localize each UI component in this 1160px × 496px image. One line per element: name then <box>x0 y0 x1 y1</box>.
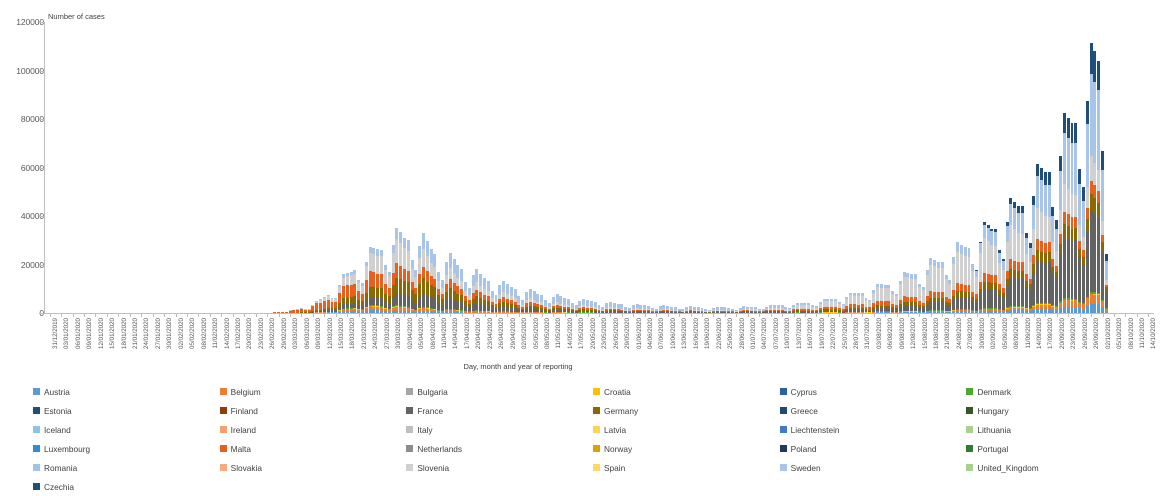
x-axis-tick-mark <box>519 314 520 317</box>
bar-segment-slovenia <box>899 284 902 300</box>
legend-item-greece[interactable]: Greece <box>780 406 967 416</box>
bar-segment-sweden <box>964 247 967 256</box>
legend-item-austria[interactable]: Austria <box>33 387 220 397</box>
x-axis-tick-label: 02/04/2020 <box>407 318 414 349</box>
bar <box>807 303 810 313</box>
x-axis-tick-mark <box>908 314 909 317</box>
x-axis-tick-mark <box>187 314 188 317</box>
bar <box>468 288 471 313</box>
bar-segment-malta <box>357 291 360 300</box>
legend-item-lithuania[interactable]: Lithuania <box>966 425 1153 435</box>
x-axis-tick-label: 06/08/2020 <box>887 318 894 349</box>
legend-item-croatia[interactable]: Croatia <box>593 387 780 397</box>
legend-item-belgium[interactable]: Belgium <box>220 387 407 397</box>
legend-item-luxembourg[interactable]: Luxembourg <box>33 444 220 454</box>
bar <box>338 285 341 313</box>
bar-segment-sweden <box>552 297 555 304</box>
bar-segment-malta <box>445 284 448 292</box>
x-axis-tick-label: 21/01/2020 <box>132 318 139 349</box>
x-axis-tick-mark <box>256 314 257 317</box>
x-axis-tick-mark <box>450 314 451 317</box>
bar-segment-germany <box>399 279 402 294</box>
bar <box>948 280 951 313</box>
bar-segment-slovenia <box>849 295 852 304</box>
x-axis-tick-label: 23/05/2020 <box>601 318 608 349</box>
bar <box>1021 206 1024 313</box>
bar-segment-malta <box>994 275 997 283</box>
bar <box>605 303 608 313</box>
bar <box>437 272 440 313</box>
bar-segment-czechia <box>1074 123 1077 143</box>
bar-segment-france <box>1101 252 1104 300</box>
bar-segment-czechia <box>1105 254 1108 261</box>
bar <box>376 249 379 313</box>
legend-label: Malta <box>231 444 251 454</box>
bar-segment-sweden <box>502 281 505 292</box>
bar <box>880 284 883 313</box>
legend-item-iceland[interactable]: Iceland <box>33 425 220 435</box>
legend-swatch-icon <box>780 388 787 395</box>
x-axis-tick-mark <box>485 314 486 317</box>
bar-segment-germany <box>1059 244 1062 255</box>
bar <box>960 245 963 313</box>
bar-segment-slovenia <box>1029 262 1032 279</box>
bar-segment-sweden <box>479 274 482 286</box>
bar-segment-slovenia <box>392 253 395 273</box>
x-axis-tick-label: 02/05/2020 <box>521 318 528 349</box>
bar-segment-germany <box>1032 264 1035 273</box>
bar-segment-slovenia <box>437 281 440 289</box>
bar-segment-slovenia <box>1040 212 1043 241</box>
x-axis-tick-mark <box>61 314 62 317</box>
x-axis-tick-label: 18/03/2020 <box>349 318 356 349</box>
x-axis-tick-label: 14/10/2020 <box>1150 318 1157 349</box>
bar-segment-slovenia <box>350 275 353 285</box>
x-axis-tick-labels: 31/12/201903/01/202006/01/202009/01/2020… <box>44 314 1154 358</box>
legend-item-spain[interactable]: Spain <box>593 463 780 473</box>
bar-segment-sweden <box>994 232 997 246</box>
x-axis-tick-label: 27/03/2020 <box>384 318 391 349</box>
bar-segment-slovenia <box>914 279 917 298</box>
bar-segment-malta <box>392 273 395 285</box>
bar-segment-slovenia <box>990 245 993 275</box>
x-axis-tick-mark <box>656 314 657 317</box>
x-axis-tick-label: 27/01/2020 <box>155 318 162 349</box>
bar-segment-slovenia <box>872 293 875 304</box>
legend-swatch-icon <box>220 445 227 452</box>
bar-segment-germany <box>395 278 398 293</box>
bar <box>639 305 642 313</box>
bar-segment-france <box>956 297 959 309</box>
bar <box>521 300 524 313</box>
bar <box>586 300 589 313</box>
bar-segment-france <box>1071 241 1074 299</box>
bar-segment-germany <box>380 288 383 299</box>
bar <box>552 297 555 313</box>
legend-label: Slovakia <box>231 463 262 473</box>
bar-segment-malta <box>1074 217 1077 228</box>
x-axis-tick-mark <box>95 314 96 317</box>
plot-area <box>44 22 1154 313</box>
bar-segment-germany <box>426 282 429 296</box>
bar <box>1090 43 1093 313</box>
x-axis-tick-mark <box>588 314 589 317</box>
bar-segment-slovenia <box>422 249 425 267</box>
bar-segment-malta <box>346 285 349 297</box>
x-axis-tick-mark <box>73 314 74 317</box>
bar <box>887 285 890 313</box>
legend-item-finland[interactable]: Finland <box>220 406 407 416</box>
bar-segment-slovenia <box>372 254 375 272</box>
x-axis-tick-label: 04/06/2020 <box>647 318 654 349</box>
bar-segment-germany <box>414 294 417 302</box>
bar-segment-germany <box>449 288 452 298</box>
bar-segment-malta <box>1051 259 1054 266</box>
bar-segment-malta <box>449 279 452 288</box>
x-axis-tick-label: 08/09/2020 <box>1013 318 1020 349</box>
bar-segment-slovenia <box>1044 216 1047 243</box>
bar-segment-malta <box>372 272 375 287</box>
legend-item-bulgaria[interactable]: Bulgaria <box>406 387 593 397</box>
bar-segment-czechia <box>1048 172 1051 185</box>
bar <box>392 245 395 313</box>
bar-segment-czechia <box>1036 164 1039 176</box>
x-axis-tick-label: 23/02/2020 <box>258 318 265 349</box>
legend-swatch-icon <box>406 388 413 395</box>
bar <box>1040 168 1043 313</box>
bar <box>872 290 875 313</box>
bar-segment-belgium <box>1097 295 1100 304</box>
bar <box>1071 123 1074 313</box>
bar <box>460 269 463 314</box>
bar <box>414 270 417 313</box>
bar-segment-sweden <box>487 281 490 291</box>
x-axis-tick-label: 20/04/2020 <box>475 318 482 349</box>
x-axis-tick-label: 23/09/2020 <box>1070 318 1077 349</box>
x-axis-tick-label: 03/01/2020 <box>63 318 70 349</box>
bar-segment-slovenia <box>407 251 410 270</box>
x-axis-tick-mark <box>324 314 325 317</box>
legend-item-slovakia[interactable]: Slovakia <box>220 463 407 473</box>
bar-segment-slovenia <box>460 281 463 289</box>
bar-segment-sweden <box>414 270 417 277</box>
x-axis-tick-mark <box>851 314 852 317</box>
bar-segment-slovenia <box>895 296 898 305</box>
x-axis-tick-label: 27/08/2020 <box>967 318 974 349</box>
x-axis-tick-label: 14/04/2020 <box>452 318 459 349</box>
legend-item-malta[interactable]: Malta <box>220 444 407 454</box>
x-axis-tick-label: 24/03/2020 <box>372 318 379 349</box>
legend-item-latvia[interactable]: Latvia <box>593 425 780 435</box>
bar <box>636 304 639 313</box>
bar <box>403 238 406 313</box>
bar-segment-slovenia <box>929 265 932 291</box>
legend-item-czechia[interactable]: Czechia <box>33 482 220 492</box>
bar-segment-sweden <box>456 265 459 278</box>
bar-segment-sweden <box>1032 205 1035 230</box>
bar-segment-france <box>1063 238 1066 299</box>
bar-segment-slovenia <box>342 278 345 286</box>
x-axis-tick-mark <box>691 314 692 317</box>
x-axis-tick-label: 31/12/2019 <box>52 318 59 349</box>
bar-segment-france <box>964 297 967 309</box>
bar-segment-slovenia <box>1006 242 1009 270</box>
bar <box>323 297 326 313</box>
bar <box>449 253 452 313</box>
x-axis-tick-label: 28/07/2020 <box>853 318 860 349</box>
bar-segment-france <box>472 304 475 311</box>
bar <box>411 260 414 313</box>
bar-segment-france <box>449 298 452 309</box>
x-axis-tick-mark <box>393 314 394 317</box>
legend-item-germany[interactable]: Germany <box>593 406 780 416</box>
bar-segment-malta <box>430 276 433 285</box>
bar-segment-france <box>933 302 936 310</box>
bar-segment-france <box>968 297 971 309</box>
bar-segment-slovenia <box>433 267 436 278</box>
bar-segment-malta <box>1090 181 1093 195</box>
legend-label: Italy <box>417 425 432 435</box>
bar-segment-sweden <box>506 284 509 294</box>
bar-segment-czechia <box>1086 101 1089 125</box>
bar-segment-malta <box>1101 235 1104 243</box>
bar <box>884 285 887 313</box>
bar-segment-slovenia <box>1063 184 1066 212</box>
x-axis-tick-label: 12/01/2020 <box>98 318 105 349</box>
x-axis-tick-mark <box>954 314 955 317</box>
bar <box>1093 51 1096 313</box>
legend-label: Lithuania <box>977 425 1011 435</box>
bar-segment-germany <box>403 281 406 295</box>
bar-segment-germany <box>1093 198 1096 214</box>
x-axis-tick-label: 17/04/2020 <box>464 318 471 349</box>
legend-item-poland[interactable]: Poland <box>780 444 967 454</box>
bar-segment-sweden <box>1093 82 1096 163</box>
legend-item-slovenia[interactable]: Slovenia <box>406 463 593 473</box>
legend-item-cyprus[interactable]: Cyprus <box>780 387 967 397</box>
legend-item-portugal[interactable]: Portugal <box>966 444 1153 454</box>
x-axis-tick-label: 24/08/2020 <box>956 318 963 349</box>
x-axis-tick-mark <box>290 314 291 317</box>
bar-segment-sweden <box>968 248 971 257</box>
bar-segment-sweden <box>998 253 1001 264</box>
legend-item-norway[interactable]: Norway <box>593 444 780 454</box>
bar-segment-germany <box>407 282 410 296</box>
x-axis-tick-label: 15/08/2020 <box>922 318 929 349</box>
bar-segment-france <box>971 301 974 311</box>
bar-segment-slovenia <box>910 279 913 298</box>
bar <box>666 306 669 313</box>
x-axis-tick-label: 26/09/2020 <box>1082 318 1089 349</box>
legend-label: Cyprus <box>791 387 817 397</box>
bar-segment-sweden <box>1097 90 1100 170</box>
bar-segment-slovenia <box>399 243 402 266</box>
legend-label: Belgium <box>231 387 261 397</box>
bar <box>861 293 864 313</box>
legend-item-estonia[interactable]: Estonia <box>33 406 220 416</box>
x-axis-tick-label: 15/03/2020 <box>338 318 345 349</box>
bar-segment-sweden <box>1105 261 1108 280</box>
legend-item-france[interactable]: France <box>406 406 593 416</box>
bar <box>971 264 974 313</box>
bar-segment-slovenia <box>853 296 856 305</box>
bar <box>777 305 780 313</box>
x-axis-tick-mark <box>1137 314 1138 317</box>
bar-segment-sweden <box>1055 229 1058 252</box>
x-axis-tick-label: 04/07/2020 <box>761 318 768 349</box>
x-axis-tick-label: 07/07/2020 <box>773 318 780 349</box>
bar-segment-slovenia <box>945 279 948 297</box>
bar-segment-sweden <box>559 296 562 303</box>
x-axis-tick-mark <box>794 314 795 317</box>
bar-segment-czechia <box>1090 43 1093 74</box>
y-axis-tick-label: 100000 <box>0 66 44 76</box>
x-axis-tick-label: 30/01/2020 <box>166 318 173 349</box>
x-axis-tick-label: 06/03/2020 <box>304 318 311 349</box>
bar-segment-france <box>407 296 410 307</box>
bar <box>525 292 528 313</box>
bar-segment-austria <box>1097 304 1100 313</box>
bar-segment-malta <box>365 280 368 293</box>
bar-segment-germany <box>1013 270 1016 278</box>
bar <box>796 302 799 313</box>
x-axis-tick-mark <box>462 314 463 317</box>
x-axis-tick-mark <box>210 314 211 317</box>
bar-segment-france <box>1074 240 1077 298</box>
covid-cases-stacked-bar-chart: Number of cases 020000400006000080000100… <box>0 0 1160 440</box>
x-axis-tick-label: 17/02/2020 <box>235 318 242 349</box>
bar-segment-germany <box>456 294 459 301</box>
bar-segment-slovenia <box>933 266 936 291</box>
bar-segment-sweden <box>1074 143 1077 195</box>
x-axis-tick-label: 26/05/2020 <box>613 318 620 349</box>
bar-segment-france <box>1044 263 1047 303</box>
x-axis-tick-mark <box>748 314 749 317</box>
bar-segment-malta <box>1009 259 1012 269</box>
bar <box>834 299 837 313</box>
bar-segment-france <box>376 298 379 305</box>
legend-item-ireland[interactable]: Ireland <box>220 425 407 435</box>
bar-segment-slovenia <box>998 263 1001 284</box>
bar-segment-germany <box>1074 228 1077 240</box>
bar <box>868 300 871 313</box>
bar <box>575 305 578 313</box>
x-axis-tick-mark <box>359 314 360 317</box>
legend-item-hungary[interactable]: Hungary <box>966 406 1153 416</box>
bar-segment-sweden <box>1029 248 1032 262</box>
legend-item-united_kingdom[interactable]: United_Kingdom <box>966 463 1153 473</box>
bar-segment-france <box>479 304 482 311</box>
legend-swatch-icon <box>593 388 600 395</box>
bar-segment-sweden <box>990 231 993 244</box>
bar-segment-malta <box>1021 262 1024 271</box>
bar-segment-sweden <box>422 233 425 248</box>
x-axis-tick-mark <box>233 314 234 317</box>
bar <box>590 301 593 313</box>
x-axis-tick-mark <box>542 314 543 317</box>
bar-segment-slovenia <box>1002 270 1005 288</box>
bar-segment-malta <box>1036 239 1039 250</box>
bar-segment-germany <box>392 285 395 297</box>
bar-segment-france <box>418 297 421 308</box>
legend-label: Austria <box>44 387 70 397</box>
legend-item-romania[interactable]: Romania <box>33 463 220 473</box>
bar-segment-malta <box>1048 242 1051 252</box>
bar <box>426 241 429 313</box>
legend-item-sweden[interactable]: Sweden <box>780 463 967 473</box>
x-axis-tick-label: 21/03/2020 <box>361 318 368 349</box>
legend-item-netherlands[interactable]: Netherlands <box>406 444 593 454</box>
legend-swatch-icon <box>220 388 227 395</box>
bar-segment-slovenia <box>941 268 944 292</box>
bar-segment-france <box>369 298 372 305</box>
bar-segment-belgium <box>1086 298 1089 305</box>
bar-segment-sweden <box>460 269 463 281</box>
bar-segment-slovenia <box>403 248 406 269</box>
x-axis-tick-label: 18/01/2020 <box>121 318 128 349</box>
bar <box>548 303 551 313</box>
legend-swatch-icon <box>406 445 413 452</box>
bar-segment-france <box>414 303 417 310</box>
legend-item-liechtenstein[interactable]: Liechtenstein <box>780 425 967 435</box>
x-axis-tick-label: 23/04/2020 <box>487 318 494 349</box>
x-axis-tick-label: 02/10/2020 <box>1105 318 1112 349</box>
bar <box>922 287 925 313</box>
bar-segment-slovenia <box>395 239 398 263</box>
legend-swatch-icon <box>406 407 413 414</box>
bar-segment-slovenia <box>1017 233 1020 262</box>
bar-segment-sweden <box>418 246 421 258</box>
bar-segment-malta <box>983 273 986 282</box>
bar <box>475 269 478 313</box>
bar-segment-france <box>975 302 978 311</box>
legend-swatch-icon <box>780 426 787 433</box>
legend-item-denmark[interactable]: Denmark <box>966 387 1153 397</box>
legend-label: United_Kingdom <box>977 463 1038 473</box>
bar <box>842 304 845 313</box>
bar-segment-malta <box>323 301 326 308</box>
bar <box>540 295 543 313</box>
x-axis-tick-mark <box>782 314 783 317</box>
bar <box>483 278 486 313</box>
legend-label: Germany <box>604 406 638 416</box>
bar <box>689 306 692 313</box>
x-axis-tick-label: 29/05/2020 <box>624 318 631 349</box>
bar-segment-sweden <box>1036 176 1039 208</box>
bar-segment-slovenia <box>964 256 967 285</box>
bar-segment-france <box>437 303 440 310</box>
bar-segment-germany <box>350 297 353 304</box>
bar-segment-slovenia <box>357 282 360 291</box>
x-axis-tick-label: 22/06/2020 <box>716 318 723 349</box>
bar <box>357 280 360 314</box>
bar-segment-sweden <box>1002 261 1005 270</box>
bar-segment-france <box>960 297 963 309</box>
x-axis-tick-label: 16/07/2020 <box>807 318 814 349</box>
bar-segment-malta <box>376 274 379 288</box>
bar <box>491 291 494 313</box>
bar-segment-czechia <box>1093 51 1096 81</box>
bar-segment-germany <box>369 287 372 298</box>
legend-swatch-icon <box>966 407 973 414</box>
legend-label: Romania <box>44 463 77 473</box>
legend-item-italy[interactable]: Italy <box>406 425 593 435</box>
bar-segment-sweden <box>399 232 402 243</box>
bar <box>849 292 852 313</box>
x-axis-tick-label: 28/06/2020 <box>739 318 746 349</box>
x-axis-tick-label: 08/04/2020 <box>430 318 437 349</box>
bar-segment-slovenia <box>384 270 387 284</box>
